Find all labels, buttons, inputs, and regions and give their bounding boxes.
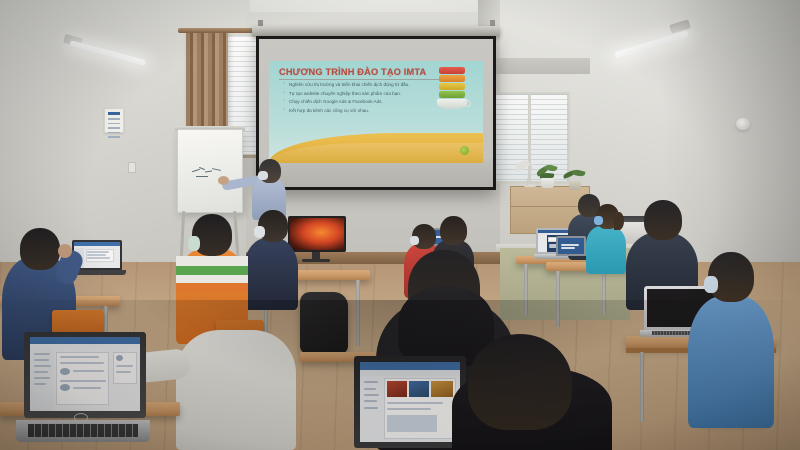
wall-notice xyxy=(104,108,124,133)
presentation-slide: CHƯƠNG TRÌNH ĐÀO TẠO IMTA Nghiên cứu thị… xyxy=(269,61,483,163)
presenter-face-mask xyxy=(258,171,268,180)
projection-screen: CHƯƠNG TRÌNH ĐÀO TẠO IMTA Nghiên cứu thị… xyxy=(256,36,496,190)
face-mask xyxy=(704,276,718,293)
slide-title-underline xyxy=(279,79,447,80)
slide-bullet: Kết hợp đa kênh các công cụ với nhau. xyxy=(283,108,433,114)
face-mask xyxy=(594,216,603,225)
stacked-coffee-cups-icon xyxy=(435,67,469,111)
classroom-scene: CHƯƠNG TRÌNH ĐÀO TẠO IMTA Nghiên cứu thị… xyxy=(0,0,800,450)
imta-logo-icon xyxy=(460,146,469,155)
slide-bullet: Chạy chiến dịch Google Ads & Facebook Ad… xyxy=(283,99,433,105)
slide-bullet-list: Nghiên cứu thị trường và triển khai chiế… xyxy=(283,82,433,116)
potted-plant-right xyxy=(562,170,588,190)
floor-shading xyxy=(0,300,800,450)
smoke-detector-icon xyxy=(736,118,750,130)
slide-bullet: Tự tạo website chuyên nghiệp theo sản ph… xyxy=(283,91,433,97)
slide-bullet: Nghiên cứu thị trường và triển khai chiế… xyxy=(283,82,433,88)
screen-blank-lower xyxy=(259,159,493,187)
slide-title: CHƯƠNG TRÌNH ĐÀO TẠO IMTA xyxy=(279,67,426,77)
soffit-ledge xyxy=(480,58,590,74)
light-switch[interactable] xyxy=(128,162,136,173)
monitor-mid-row[interactable] xyxy=(288,216,350,264)
laptop-mid-right[interactable] xyxy=(556,236,588,262)
potted-plant-left xyxy=(534,164,560,188)
